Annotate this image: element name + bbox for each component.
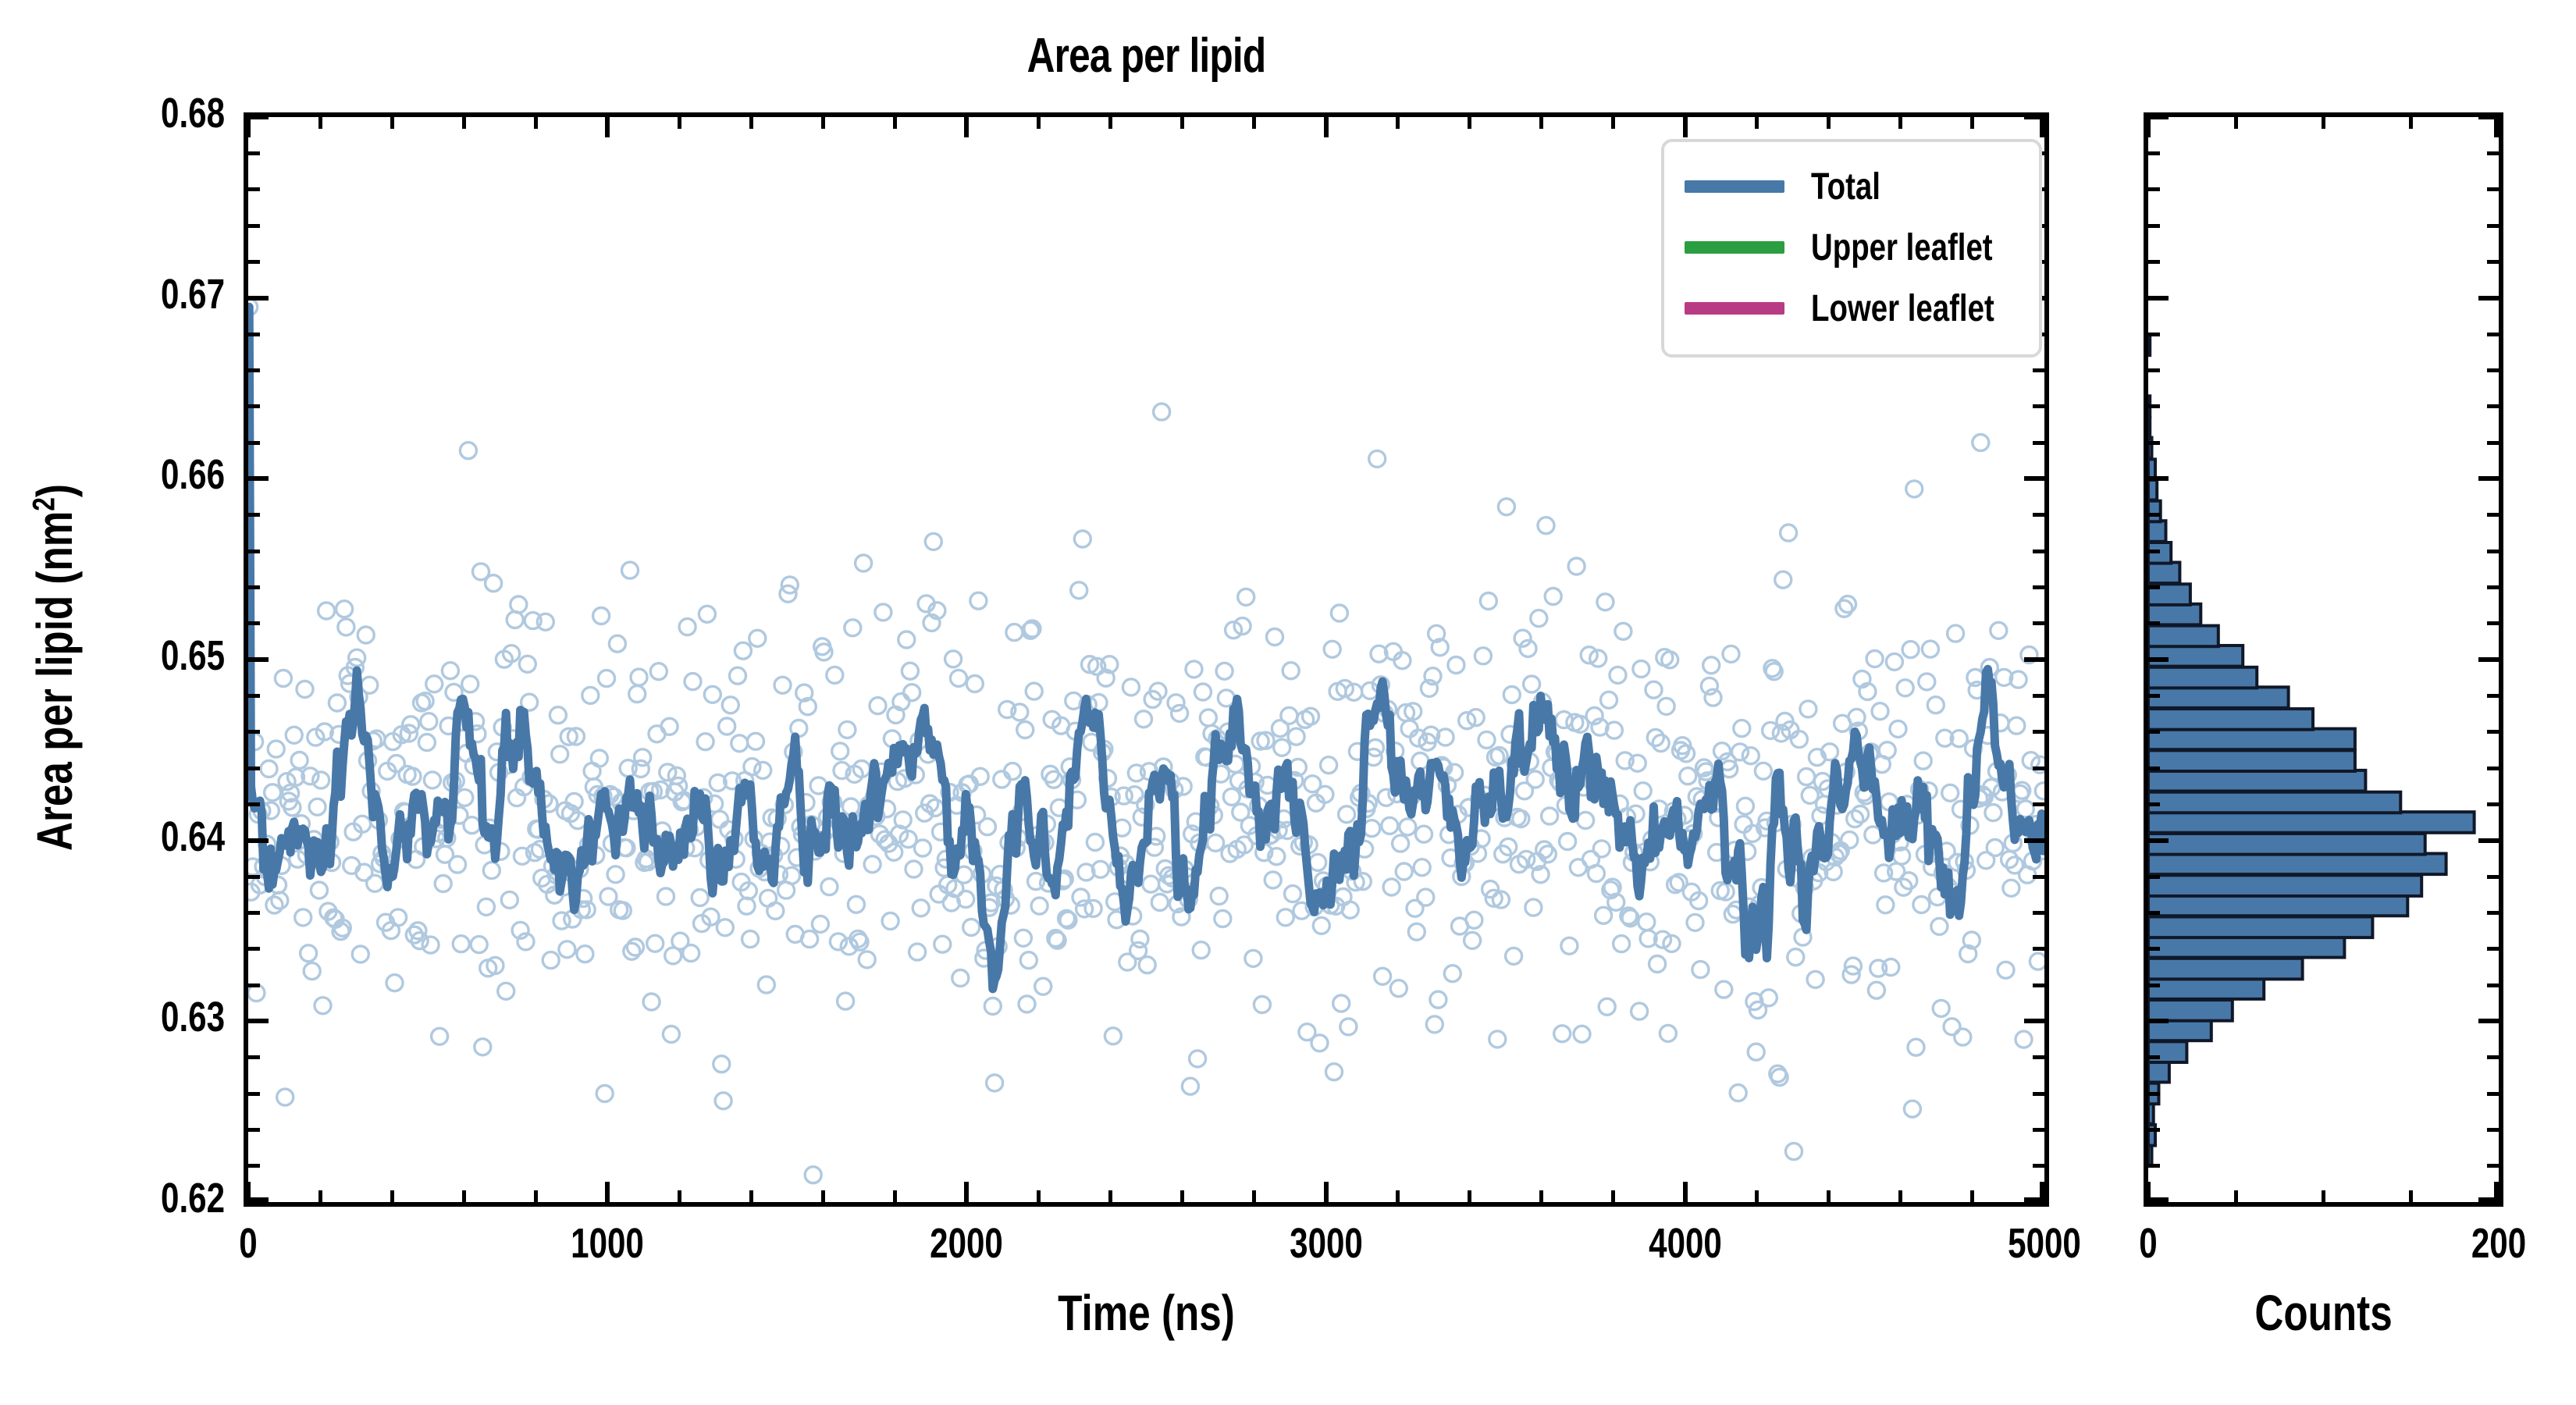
histogram-bar — [2148, 750, 2355, 771]
x-tick-minor — [1827, 1190, 1831, 1202]
y-tick-label: 0.64 — [49, 813, 225, 861]
x-tick-major — [1324, 1182, 1329, 1202]
y-tick-minor — [248, 151, 260, 155]
y-tick-major — [248, 115, 269, 119]
x-tick-minor — [1108, 1190, 1112, 1202]
y-tick-major-right — [2024, 657, 2044, 662]
hist-y-tick-minor-right — [2487, 1128, 2499, 1132]
x-tick-major — [605, 1182, 610, 1202]
x-tick-minor-top — [1252, 117, 1256, 129]
hist-y-tick-major — [2148, 1019, 2169, 1023]
y-tick-minor — [248, 368, 260, 372]
hist-y-tick-minor-right — [2487, 767, 2499, 770]
y-tick-minor-right — [2033, 947, 2044, 951]
x-tick-minor — [749, 1190, 753, 1202]
figure-title: Area per lipid — [424, 28, 1868, 84]
x-tick-minor — [390, 1190, 394, 1202]
y-tick-minor — [248, 730, 260, 734]
histogram-bar — [2148, 479, 2157, 500]
hist-x-tick-label: 200 — [2407, 1219, 2576, 1268]
hist-y-tick-minor-right — [2487, 911, 2499, 915]
y-tick-minor — [248, 767, 260, 770]
hist-y-tick-minor — [2148, 513, 2160, 517]
legend-item-lower-leaflet[interactable]: Lower leaflet — [1685, 278, 2022, 339]
hist-y-tick-minor-right — [2487, 947, 2499, 951]
y-tick-minor — [248, 585, 260, 589]
hist-y-tick-minor-right — [2487, 802, 2499, 806]
hist-y-tick-minor-right — [2487, 1055, 2499, 1059]
x-tick-major-top — [605, 117, 610, 137]
hist-y-tick-minor-right — [2487, 621, 2499, 625]
histogram-bar — [2148, 875, 2421, 896]
y-tick-minor-right — [2033, 767, 2044, 770]
hist-y-tick-major — [2148, 476, 2169, 481]
hist-y-tick-minor — [2148, 947, 2160, 951]
histogram-bar — [2148, 959, 2303, 980]
x-tick-minor-top — [318, 117, 322, 129]
hist-y-tick-minor-right — [2487, 730, 2499, 734]
hist-x-tick-label: 0 — [2057, 1219, 2240, 1268]
x-tick-major-top — [1324, 117, 1329, 137]
hist-y-tick-minor — [2148, 802, 2160, 806]
histogram-canvas — [2148, 117, 2499, 1202]
x-tick-major — [964, 1182, 969, 1202]
legend-swatch-upper-leaflet — [1685, 241, 1784, 254]
x-tick-minor-top — [893, 117, 897, 129]
histogram-bar — [2148, 917, 2372, 938]
hist-y-tick-minor — [2148, 911, 2160, 915]
y-tick-minor — [248, 875, 260, 879]
x-tick-minor-top — [462, 117, 466, 129]
x-tick-minor — [821, 1190, 825, 1202]
x-tick-minor-top — [1755, 117, 1759, 129]
x-tick-minor-top — [1539, 117, 1543, 129]
hist-y-tick-minor — [2148, 1164, 2160, 1168]
histogram-bar — [2148, 770, 2365, 791]
hist-y-tick-minor — [2148, 404, 2160, 408]
y-tick-major-right — [2024, 1197, 2044, 1202]
y-tick-minor — [248, 911, 260, 915]
hist-y-tick-major — [2148, 1197, 2169, 1202]
x-tick-minor-top — [1827, 117, 1831, 129]
y-tick-minor — [248, 260, 260, 264]
legend-label-upper-leaflet: Upper leaflet — [1811, 226, 1993, 269]
y-tick-major — [248, 476, 269, 481]
x-tick-minor — [1898, 1190, 1902, 1202]
y-tick-minor — [248, 333, 260, 336]
y-tick-major — [248, 296, 269, 301]
hist-y-tick-minor — [2148, 550, 2160, 553]
hist-y-tick-minor — [2148, 621, 2160, 625]
hist-y-tick-minor-right — [2487, 875, 2499, 879]
y-tick-minor — [248, 404, 260, 408]
y-tick-label: 0.65 — [49, 631, 225, 680]
x-tick-major-top — [964, 117, 969, 137]
y-tick-major — [248, 838, 269, 843]
x-tick-minor-top — [1108, 117, 1112, 129]
x-tick-minor — [534, 1190, 538, 1202]
histogram-bar — [2148, 729, 2355, 750]
histogram-bar — [2148, 1062, 2169, 1083]
x-tick-minor-top — [749, 117, 753, 129]
hist-x-tick-major-top — [2494, 117, 2499, 137]
y-tick-minor-right — [2033, 1092, 2044, 1096]
y-tick-minor-right — [2033, 1055, 2044, 1059]
y-tick-minor — [248, 1092, 260, 1096]
histogram-bar — [2148, 978, 2264, 999]
hist-y-tick-major — [2148, 296, 2169, 301]
hist-y-tick-minor-right — [2487, 441, 2499, 445]
hist-y-tick-major-right — [2478, 1019, 2499, 1023]
y-tick-minor-right — [2033, 983, 2044, 987]
legend-label-total: Total — [1811, 165, 1880, 208]
legend-swatch-total — [1685, 180, 1784, 193]
y-tick-minor — [248, 983, 260, 987]
hist-y-tick-minor — [2148, 730, 2160, 734]
x-tick-minor — [318, 1190, 322, 1202]
histogram-bar — [2148, 667, 2257, 688]
hist-y-tick-minor — [2148, 694, 2160, 698]
hist-y-tick-minor-right — [2487, 333, 2499, 336]
hist-y-tick-minor-right — [2487, 404, 2499, 408]
hist-y-tick-minor — [2148, 151, 2160, 155]
y-tick-minor-right — [2033, 621, 2044, 625]
hist-y-tick-major-right — [2478, 838, 2499, 843]
hist-y-tick-minor — [2148, 333, 2160, 336]
y-tick-minor-right — [2033, 911, 2044, 915]
y-tick-label: 0.67 — [49, 270, 225, 318]
y-tick-minor — [248, 550, 260, 553]
hist-x-tick-minor-top — [2322, 117, 2325, 129]
x-tick-minor — [1180, 1190, 1184, 1202]
y-tick-minor-right — [2033, 875, 2044, 879]
hist-y-tick-minor-right — [2487, 151, 2499, 155]
y-tick-minor — [248, 441, 260, 445]
legend-item-upper-leaflet[interactable]: Upper leaflet — [1685, 217, 2022, 278]
hist-y-tick-minor — [2148, 1128, 2160, 1132]
y-tick-minor-right — [2033, 730, 2044, 734]
x-tick-minor — [1539, 1190, 1543, 1202]
legend-item-total[interactable]: Total — [1685, 156, 2022, 217]
x-tick-minor-top — [1468, 117, 1471, 129]
y-tick-major — [248, 1197, 269, 1202]
hist-x-tick-minor — [2322, 1190, 2325, 1202]
hist-y-tick-major-right — [2478, 476, 2499, 481]
x-tick-minor-top — [534, 117, 538, 129]
hist-y-tick-minor-right — [2487, 513, 2499, 517]
hist-y-tick-minor-right — [2487, 983, 2499, 987]
y-tick-minor-right — [2033, 404, 2044, 408]
x-tick-minor — [893, 1190, 897, 1202]
x-tick-minor — [1037, 1190, 1041, 1202]
hist-y-tick-minor — [2148, 767, 2160, 770]
x-tick-minor-top — [1611, 117, 1615, 129]
hist-y-tick-major-right — [2478, 115, 2499, 119]
y-axis-label-superscript: 2 — [27, 497, 62, 511]
histogram-bar — [2148, 1103, 2154, 1124]
hist-y-tick-minor-right — [2487, 585, 2499, 589]
hist-y-tick-major — [2148, 838, 2169, 843]
hist-x-tick-minor-top — [2234, 117, 2238, 129]
hist-y-tick-major-right — [2478, 296, 2499, 301]
hist-y-tick-minor-right — [2487, 260, 2499, 264]
y-tick-minor — [248, 621, 260, 625]
x-tick-minor — [1396, 1190, 1400, 1202]
x-tick-major-top — [1683, 117, 1688, 137]
hist-y-tick-minor — [2148, 983, 2160, 987]
x-tick-minor-top — [1898, 117, 1902, 129]
y-tick-minor — [248, 224, 260, 228]
histogram-bar — [2148, 854, 2446, 875]
hist-y-tick-minor — [2148, 260, 2160, 264]
histogram-bar — [2148, 335, 2150, 356]
y-axis-label-text: Area per lipid (nm — [27, 511, 83, 851]
y-tick-minor-right — [2033, 513, 2044, 517]
y-tick-minor-right — [2033, 1128, 2044, 1132]
x-tick-minor — [1468, 1190, 1471, 1202]
hist-y-tick-major-right — [2478, 1197, 2499, 1202]
x-tick-minor-top — [1037, 117, 1041, 129]
hist-x-tick-major-top — [2146, 117, 2151, 137]
hist-y-tick-minor-right — [2487, 187, 2499, 191]
figure-root: Area per lipid Area per lipid (nm2) Time… — [0, 0, 2576, 1405]
hist-y-tick-minor — [2148, 187, 2160, 191]
y-tick-minor — [248, 947, 260, 951]
y-tick-label: 0.68 — [49, 89, 225, 137]
x-tick-minor — [462, 1190, 466, 1202]
y-tick-label: 0.62 — [49, 1174, 225, 1222]
histogram-bar — [2148, 646, 2243, 667]
y-tick-major-right — [2024, 1019, 2044, 1023]
legend-label-lower-leaflet: Lower leaflet — [1811, 287, 1994, 330]
hist-y-tick-minor — [2148, 875, 2160, 879]
x-tick-minor-top — [1396, 117, 1400, 129]
histogram-panel — [2144, 112, 2503, 1207]
y-tick-minor-right — [2033, 550, 2044, 553]
y-tick-label: 0.66 — [49, 450, 225, 499]
y-tick-major-right — [2024, 476, 2044, 481]
histogram-bar — [2148, 937, 2344, 958]
hist-y-tick-minor-right — [2487, 550, 2499, 553]
histogram-bar — [2148, 1000, 2233, 1021]
histogram-bar — [2148, 563, 2179, 584]
x-tick-minor-top — [1180, 117, 1184, 129]
x-tick-label: 3000 — [1235, 1219, 1418, 1268]
legend: Total Upper leaflet Lower leaflet — [1661, 139, 2042, 357]
x-tick-minor-top — [390, 117, 394, 129]
x-tick-minor-top — [821, 117, 825, 129]
y-tick-label: 0.63 — [49, 993, 225, 1041]
hist-y-tick-minor-right — [2487, 1092, 2499, 1096]
y-tick-minor — [248, 1055, 260, 1059]
x-tick-major — [1683, 1182, 1688, 1202]
y-tick-major-right — [2024, 838, 2044, 843]
y-tick-minor-right — [2033, 802, 2044, 806]
hist-y-tick-minor — [2148, 1092, 2160, 1096]
x-tick-minor — [1970, 1190, 1974, 1202]
x-axis-label-main: Time (ns) — [424, 1284, 1868, 1342]
histogram-bar — [2148, 709, 2313, 730]
histogram-bar — [2148, 687, 2289, 708]
hist-y-tick-minor — [2148, 585, 2160, 589]
x-tick-minor — [1755, 1190, 1759, 1202]
y-tick-minor — [248, 694, 260, 698]
hist-x-tick-minor-top — [2409, 117, 2413, 129]
hist-y-tick-minor — [2148, 441, 2160, 445]
histogram-bar — [2148, 626, 2218, 647]
y-tick-major-right — [2024, 115, 2044, 119]
y-tick-major — [248, 1019, 269, 1023]
x-tick-label: 4000 — [1594, 1219, 1777, 1268]
x-tick-label: 1000 — [516, 1219, 699, 1268]
histogram-bar — [2148, 792, 2400, 813]
hist-y-tick-minor — [2148, 368, 2160, 372]
histogram-bar — [2148, 1144, 2152, 1165]
hist-y-tick-minor-right — [2487, 694, 2499, 698]
hist-y-tick-minor — [2148, 224, 2160, 228]
y-tick-minor — [248, 802, 260, 806]
y-tick-minor — [248, 1164, 260, 1168]
y-tick-minor — [248, 187, 260, 191]
x-tick-minor-top — [678, 117, 681, 129]
x-tick-minor — [1611, 1190, 1615, 1202]
legend-swatch-lower-leaflet — [1685, 302, 1784, 315]
hist-y-tick-minor-right — [2487, 224, 2499, 228]
x-tick-minor-top — [1970, 117, 1974, 129]
histogram-bar — [2148, 418, 2150, 439]
x-tick-minor — [678, 1190, 681, 1202]
hist-x-tick-minor — [2234, 1190, 2238, 1202]
x-tick-label: 0 — [157, 1219, 340, 1268]
y-tick-minor-right — [2033, 441, 2044, 445]
histogram-bar — [2148, 812, 2475, 833]
y-tick-minor-right — [2033, 368, 2044, 372]
x-tick-major-top — [246, 117, 251, 137]
hist-y-tick-minor — [2148, 1055, 2160, 1059]
y-tick-minor-right — [2033, 1164, 2044, 1168]
x-tick-minor — [1252, 1190, 1256, 1202]
y-tick-major — [248, 657, 269, 662]
histogram-bar — [2148, 834, 2425, 855]
x-tick-label: 2000 — [875, 1219, 1058, 1268]
hist-y-tick-major — [2148, 115, 2169, 119]
x-axis-label-histogram: Counts — [2179, 1284, 2467, 1342]
y-tick-minor — [248, 1128, 260, 1132]
y-tick-minor — [248, 513, 260, 517]
histogram-bar — [2148, 521, 2166, 542]
y-tick-minor-right — [2033, 585, 2044, 589]
hist-y-tick-major — [2148, 657, 2169, 662]
histogram-bar — [2148, 895, 2407, 916]
y-tick-minor-right — [2033, 694, 2044, 698]
histogram-bar — [2148, 501, 2161, 522]
hist-y-tick-minor-right — [2487, 1164, 2499, 1168]
hist-y-tick-major-right — [2478, 657, 2499, 662]
hist-y-tick-minor-right — [2487, 368, 2499, 372]
hist-x-tick-minor — [2409, 1190, 2413, 1202]
x-tick-major-top — [2040, 117, 2044, 137]
